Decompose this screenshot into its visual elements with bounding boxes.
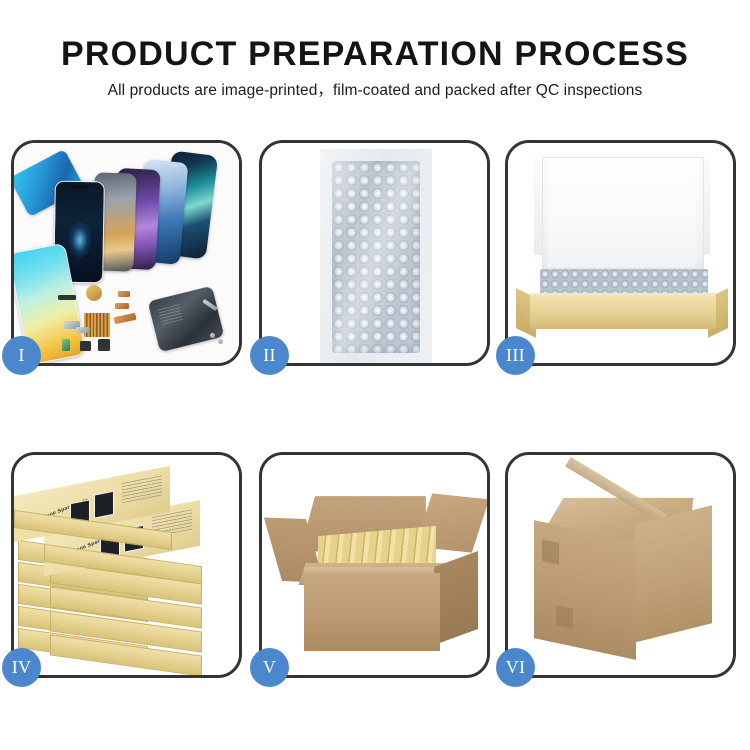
- bubble-cells: [332, 161, 420, 353]
- step-badge-5: V: [250, 648, 289, 687]
- sealed-carton-right-face: [634, 505, 712, 642]
- camera-module-part: [80, 341, 91, 351]
- shield-plate-part: [76, 327, 90, 333]
- step-badge-2: II: [250, 336, 289, 375]
- step-card-5: V: [259, 452, 490, 678]
- header: PRODUCT PREPARATION PROCESS All products…: [0, 34, 750, 101]
- screw-part-b: [218, 339, 223, 344]
- speaker-part: [86, 285, 102, 301]
- box-label-phone-image-1b: [94, 491, 114, 519]
- step-image-6: [508, 455, 733, 675]
- foam-sheet: [548, 195, 696, 267]
- step-image-1: [14, 143, 239, 363]
- step-image-2: [262, 143, 487, 363]
- step-card-4: Mobile Phone Spare Parts Mobile Phone Sp…: [11, 452, 242, 678]
- step-badge-1: I: [2, 336, 41, 375]
- step-badge-3: III: [496, 336, 535, 375]
- carton-front-face: [304, 573, 440, 651]
- screw-part-a: [210, 333, 215, 338]
- carton-tab-upper: [542, 539, 559, 565]
- step-card-3: III: [505, 140, 736, 366]
- flex-cable-part-b: [115, 303, 129, 309]
- step-card-1: I: [11, 140, 242, 366]
- earpiece-part: [58, 295, 76, 300]
- process-steps-grid: I II: [11, 140, 739, 678]
- vibrator-part: [98, 339, 110, 351]
- flex-cable-part-a: [118, 291, 130, 297]
- bubble-wrap-pouch: [320, 149, 432, 363]
- connector-grid-part: [84, 313, 110, 337]
- step-image-4: Mobile Phone Spare Parts Mobile Phone Sp…: [14, 455, 239, 675]
- battery-part: [62, 339, 70, 351]
- step-badge-6: VI: [496, 648, 535, 687]
- step-card-2: II: [259, 140, 490, 366]
- step-badge-4: IV: [2, 648, 41, 687]
- mailer-box-front: [530, 301, 716, 329]
- step-image-5: [262, 455, 487, 675]
- carton-tab-lower: [556, 605, 573, 629]
- carton-right-side: [434, 551, 478, 645]
- page-title: PRODUCT PREPARATION PROCESS: [0, 34, 750, 74]
- product-preparation-infographic: PRODUCT PREPARATION PROCESS All products…: [0, 0, 750, 750]
- page-subtitle: All products are image-printed，film-coat…: [0, 81, 750, 101]
- step-card-6: VI: [505, 452, 736, 678]
- step-image-3: [508, 143, 733, 363]
- box-label-spec-lines-1: [122, 473, 162, 503]
